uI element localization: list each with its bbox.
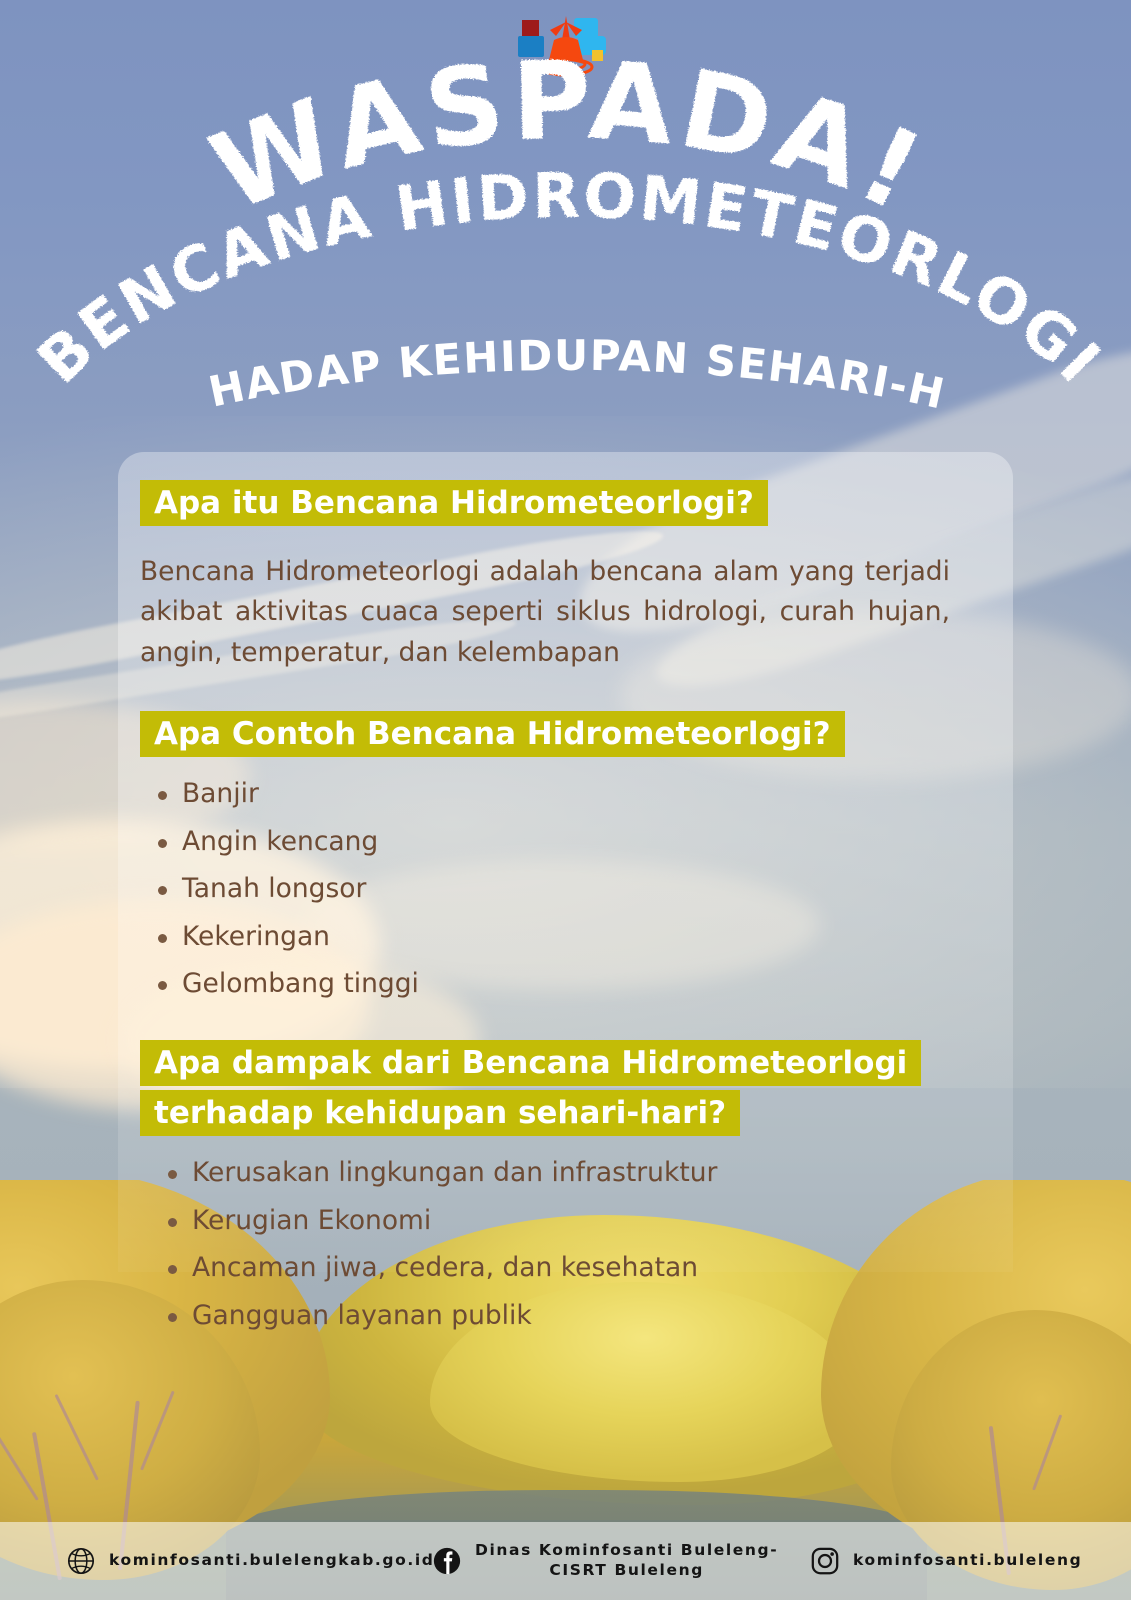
list-item: Gangguan layanan publik [140,1303,1000,1330]
list-item: Kekeringan [140,924,1000,951]
list-item: Gelombang tinggi [140,971,1000,998]
footer-bar: kominfosanti.bulelengkab.go.id Dinas Kom… [0,1522,1131,1600]
footer-instagram-label: kominfosanti.buleleng [853,1551,1082,1571]
footer-website-label: kominfosanti.bulelengkab.go.id [109,1551,434,1571]
instagram-icon [810,1546,840,1576]
footer-facebook-line2: CISRT Buleleng [549,1561,704,1579]
footer-facebook[interactable]: Dinas Kominfosanti Buleleng-CISRT Bulele… [432,1541,778,1581]
section-2-heading: Apa Contoh Bencana Hidrometeorlogi? [140,709,1000,759]
section-1-heading: Apa itu Bencana Hidrometeorlogi? [140,478,1000,528]
section-2-list: Banjir Angin kencang Tanah longsor Keker… [140,781,1000,998]
content-body: Apa itu Bencana Hidrometeorlogi? Bencana… [140,478,1000,1350]
windmill-logo-icon [516,10,616,78]
list-item: Kerugian Ekonomi [140,1208,1000,1235]
list-item: Angin kencang [140,829,1000,856]
section-1-paragraph: Bencana Hidrometeorlogi adalah bencana a… [140,552,950,673]
section-3-list: Kerusakan lingkungan dan infrastruktur K… [140,1160,1000,1329]
poster-root: WASPADA! BENCANA HIDROMETEORLOGI TERHADA… [0,0,1131,1600]
section-heading-label: Apa dampak dari Bencana Hidrometeorlogi … [140,1040,921,1136]
footer-website[interactable]: kominfosanti.bulelengkab.go.id [66,1546,434,1576]
section-heading-label: Apa Contoh Bencana Hidrometeorlogi? [140,711,845,757]
list-item: Tanah longsor [140,876,1000,903]
globe-icon [66,1546,96,1576]
list-item: Banjir [140,781,1000,808]
list-item: Ancaman jiwa, cedera, dan kesehatan [140,1255,1000,1282]
list-item: Kerusakan lingkungan dan infrastruktur [140,1160,1000,1187]
facebook-icon [432,1546,462,1576]
section-3-heading: Apa dampak dari Bencana Hidrometeorlogi … [140,1038,1000,1138]
footer-instagram[interactable]: kominfosanti.buleleng [810,1546,1082,1576]
footer-facebook-label: Dinas Kominfosanti Buleleng-CISRT Bulele… [475,1541,778,1581]
footer-facebook-line1: Dinas Kominfosanti Buleleng- [475,1541,778,1559]
section-heading-label: Apa itu Bencana Hidrometeorlogi? [140,480,768,526]
